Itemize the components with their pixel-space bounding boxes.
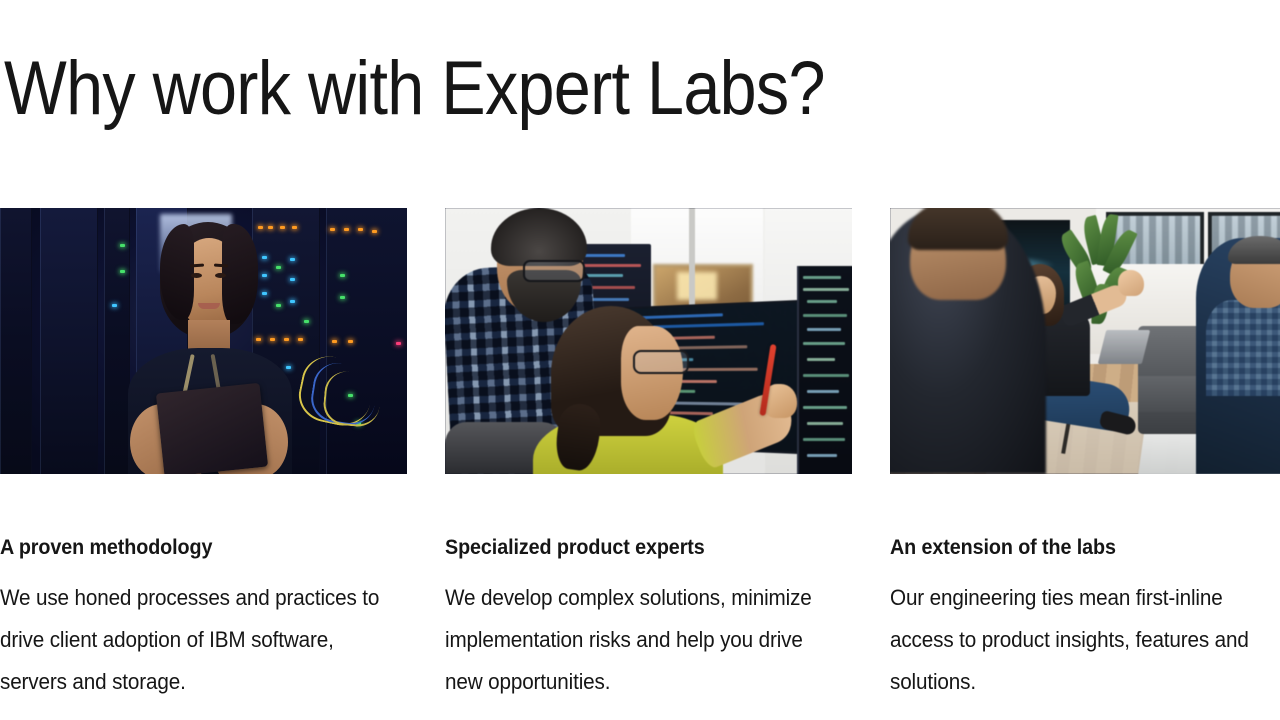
card-description: Our engineering ties mean first-inline a… <box>890 577 1262 703</box>
expert-labs-section: Why work with Expert Labs? <box>0 0 1280 720</box>
card-text-block: A proven methodology We use honed proces… <box>0 474 407 703</box>
value-props-card-grid: A proven methodology We use honed proces… <box>0 208 1280 703</box>
card-text-block: Specialized product experts We develop c… <box>445 474 852 703</box>
page-title: Why work with Expert Labs? <box>4 45 825 133</box>
card-proven-methodology: A proven methodology We use honed proces… <box>0 208 407 703</box>
card-title: A proven methodology <box>0 536 383 560</box>
developers-reviewing-code-photo <box>445 208 852 474</box>
card-description: We develop complex solutions, minimize i… <box>445 577 828 703</box>
card-description: We use honed processes and practices to … <box>0 577 383 703</box>
office-meeting-photo <box>890 208 1280 474</box>
card-title: An extension of the labs <box>890 536 1262 560</box>
card-title: Specialized product experts <box>445 536 828 560</box>
card-specialized-product-experts: Specialized product experts We develop c… <box>445 208 852 703</box>
card-text-block: An extension of the labs Our engineering… <box>890 474 1280 703</box>
data-center-photo <box>0 208 407 474</box>
card-extension-of-the-labs: An extension of the labs Our engineering… <box>890 208 1280 703</box>
